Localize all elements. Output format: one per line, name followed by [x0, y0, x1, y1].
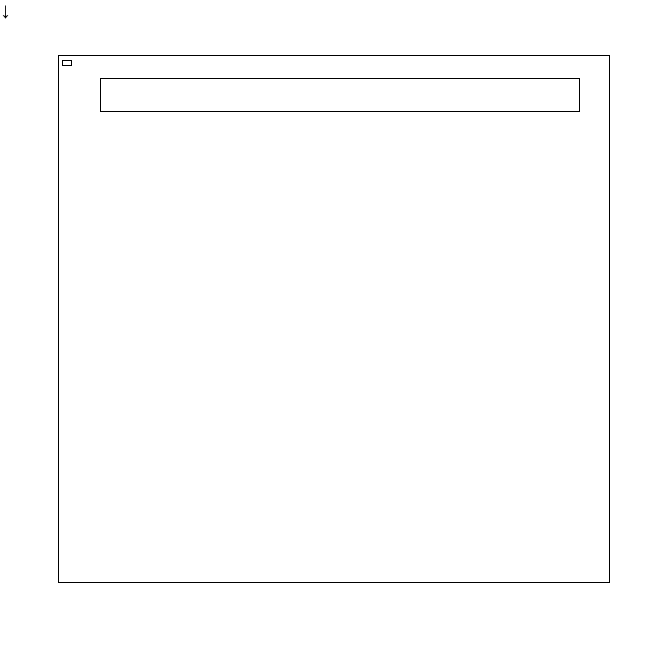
colorbar: [100, 78, 580, 112]
chart-canvas: ↓: [0, 0, 650, 650]
colorbar-tickmarks: [100, 78, 580, 112]
mmdd-annotation: [62, 60, 72, 66]
heatmap-layer: [58, 55, 610, 583]
latitude-marker-arrow: ↓: [0, 0, 11, 22]
colorbar-ticklabels: [100, 114, 580, 132]
